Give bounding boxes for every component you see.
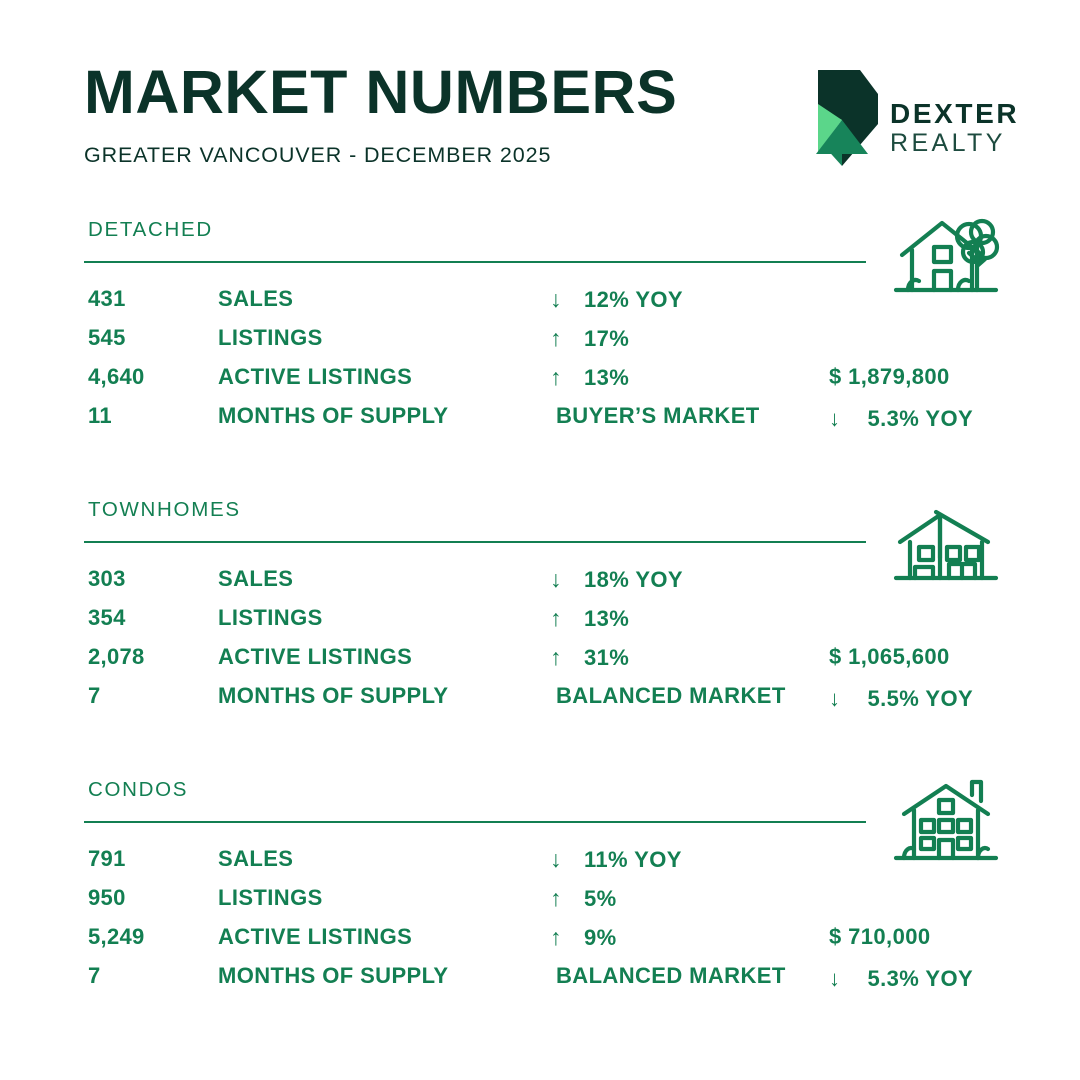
row-label: SALES xyxy=(218,286,293,312)
section-detached: DETACHED 431 SALES ↓ 12% YOY 545 LISTING… xyxy=(84,218,996,442)
table-row: 354 LISTINGS ↑ 13% xyxy=(84,605,996,644)
row-value: 545 xyxy=(88,325,126,351)
row-label: LISTINGS xyxy=(218,885,323,911)
benchmark-price-block: $ 1,065,600 ↓ 5.5% YOY xyxy=(829,644,973,712)
market-status-badge: BUYER’S MARKET xyxy=(556,403,760,429)
arrow-up-icon: ↑ xyxy=(550,364,584,391)
logo-name-bottom: REALTY xyxy=(890,131,1019,156)
row-label: SALES xyxy=(218,566,293,592)
row-label: ACTIVE LISTINGS xyxy=(218,924,412,950)
detached-house-icon xyxy=(890,204,1002,304)
row-label: LISTINGS xyxy=(218,605,323,631)
market-status-badge: BALANCED MARKET xyxy=(556,963,786,989)
row-value: 950 xyxy=(88,885,126,911)
section-heading: CONDOS xyxy=(88,778,996,802)
arrow-down-icon: ↓ xyxy=(829,686,861,712)
benchmark-price-change: ↓ 5.5% YOY xyxy=(829,686,973,712)
section-heading: TOWNHOMES xyxy=(88,498,996,522)
row-value: 303 xyxy=(88,566,126,592)
row-value: 354 xyxy=(88,605,126,631)
benchmark-price: $ 1,879,800 xyxy=(829,364,973,390)
section-divider xyxy=(84,821,866,823)
section-condos: CONDOS 791 SALES ↓ 11% YOY 950 LISTINGS … xyxy=(84,778,996,1002)
row-value: 7 xyxy=(88,963,101,989)
row-label: SALES xyxy=(218,846,293,872)
row-change-text: 17% xyxy=(584,326,629,352)
row-change-text: 31% xyxy=(584,645,629,671)
row-value: 5,249 xyxy=(88,924,145,950)
arrow-down-icon: ↓ xyxy=(550,286,584,313)
arrow-down-icon: ↓ xyxy=(829,406,861,432)
benchmark-price-change-text: 5.3% YOY xyxy=(868,406,974,431)
row-change: ↓ 12% YOY xyxy=(550,286,683,313)
row-change: ↑ 31% xyxy=(550,644,629,671)
benchmark-price-change: ↓ 5.3% YOY xyxy=(829,966,973,992)
row-change-text: 12% YOY xyxy=(584,287,683,313)
arrow-up-icon: ↑ xyxy=(550,924,584,951)
section-heading: DETACHED xyxy=(88,218,996,242)
row-change-text: 9% xyxy=(584,925,617,951)
table-row: 303 SALES ↓ 18% YOY xyxy=(84,566,996,605)
benchmark-price-block: $ 710,000 ↓ 5.3% YOY xyxy=(829,924,973,992)
row-change: ↑ 13% xyxy=(550,364,629,391)
logo-name-top: DEXTER xyxy=(890,100,1019,128)
market-numbers-infographic: MARKET NUMBERS GREATER VANCOUVER - DECEM… xyxy=(0,0,1080,1080)
section-divider xyxy=(84,261,866,263)
row-label: LISTINGS xyxy=(218,325,323,351)
logo-mark-icon xyxy=(802,68,880,168)
section-rows: 303 SALES ↓ 18% YOY 354 LISTINGS ↑ 13% 2… xyxy=(84,566,996,722)
arrow-down-icon: ↓ xyxy=(550,566,584,593)
table-row: 950 LISTINGS ↑ 5% xyxy=(84,885,996,924)
arrow-up-icon: ↑ xyxy=(550,325,584,352)
market-status-badge: BALANCED MARKET xyxy=(556,683,786,709)
benchmark-price: $ 1,065,600 xyxy=(829,644,973,670)
arrow-up-icon: ↑ xyxy=(550,605,584,632)
row-value: 791 xyxy=(88,846,126,872)
row-label: MONTHS OF SUPPLY xyxy=(218,963,449,989)
section-rows: 791 SALES ↓ 11% YOY 950 LISTINGS ↑ 5% 5,… xyxy=(84,846,996,1002)
table-row: 431 SALES ↓ 12% YOY xyxy=(84,286,996,325)
table-row: 791 SALES ↓ 11% YOY xyxy=(84,846,996,885)
townhouse-icon xyxy=(890,490,1002,590)
arrow-down-icon: ↓ xyxy=(550,846,584,873)
row-value: 11 xyxy=(88,403,112,429)
benchmark-price-block: $ 1,879,800 ↓ 5.3% YOY xyxy=(829,364,973,432)
section-divider xyxy=(84,541,866,543)
row-change: ↑ 17% xyxy=(550,325,629,352)
row-label: ACTIVE LISTINGS xyxy=(218,644,412,670)
logo-wordmark: DEXTER REALTY xyxy=(890,100,1019,156)
arrow-down-icon: ↓ xyxy=(829,966,861,992)
condo-building-icon xyxy=(890,770,1002,870)
row-change-text: 5% xyxy=(584,886,617,912)
row-value: 4,640 xyxy=(88,364,145,390)
benchmark-price-change-text: 5.3% YOY xyxy=(868,966,974,991)
row-value: 2,078 xyxy=(88,644,145,670)
row-change: ↑ 13% xyxy=(550,605,629,632)
benchmark-price-change: ↓ 5.3% YOY xyxy=(829,406,973,432)
section-rows: 431 SALES ↓ 12% YOY 545 LISTINGS ↑ 17% 4… xyxy=(84,286,996,442)
row-change: ↑ 5% xyxy=(550,885,617,912)
dexter-realty-logo: DEXTER REALTY xyxy=(802,68,1002,172)
benchmark-price-change-text: 5.5% YOY xyxy=(868,686,974,711)
arrow-up-icon: ↑ xyxy=(550,885,584,912)
row-change: ↓ 18% YOY xyxy=(550,566,683,593)
table-row: 545 LISTINGS ↑ 17% xyxy=(84,325,996,364)
row-change: ↓ 11% YOY xyxy=(550,846,682,873)
row-change: ↑ 9% xyxy=(550,924,617,951)
row-change-text: 18% YOY xyxy=(584,567,683,593)
row-change-text: 13% xyxy=(584,365,629,391)
row-change-text: 11% YOY xyxy=(584,847,682,873)
benchmark-price: $ 710,000 xyxy=(829,924,973,950)
row-value: 7 xyxy=(88,683,101,709)
arrow-up-icon: ↑ xyxy=(550,644,584,671)
section-townhomes: TOWNHOMES 303 SALES ↓ 18% YOY 354 LISTIN… xyxy=(84,498,996,722)
row-label: MONTHS OF SUPPLY xyxy=(218,403,449,429)
row-label: ACTIVE LISTINGS xyxy=(218,364,412,390)
row-change-text: 13% xyxy=(584,606,629,632)
row-label: MONTHS OF SUPPLY xyxy=(218,683,449,709)
row-value: 431 xyxy=(88,286,126,312)
